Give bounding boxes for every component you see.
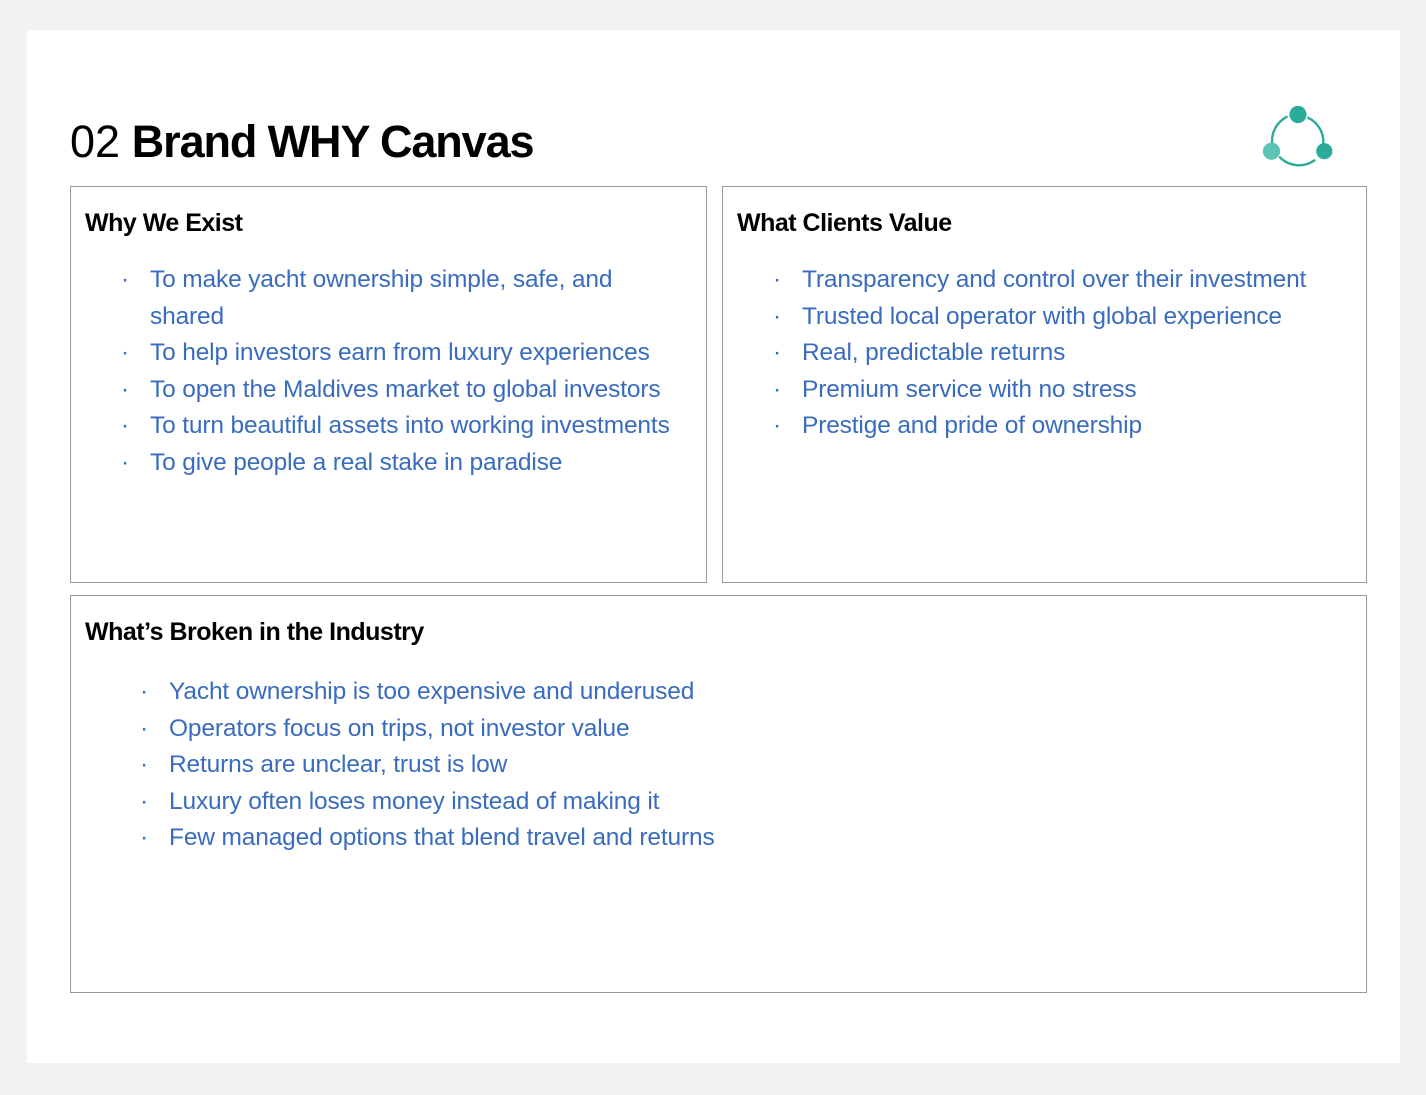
card-why-we-exist: Why We Exist · To make yacht ownership s… (70, 186, 707, 583)
slide-header: 02 Brand WHY Canvas (70, 88, 1367, 178)
card-title-whats-broken: What’s Broken in the Industry (71, 596, 1366, 647)
list-item: · Returns are unclear, trust is low (138, 747, 1171, 784)
bullet-marker-icon: · (771, 408, 783, 445)
list-item: · Transparency and control over their in… (771, 262, 1333, 299)
list-item: · To give people a real stake in paradis… (119, 445, 671, 482)
list-item-label: To open the Maldives market to global in… (119, 372, 671, 409)
logo-node-right (1316, 143, 1332, 159)
bullet-marker-icon: · (138, 711, 150, 748)
circular-nodes-logo-icon (1256, 101, 1340, 171)
list-item-label: Operators focus on trips, not investor v… (138, 711, 1171, 748)
bullet-marker-icon: · (771, 299, 783, 336)
bullet-list-whats-broken: · Yacht ownership is too expensive and u… (71, 674, 1171, 857)
card-what-clients-value: What Clients Value · Transparency and co… (722, 186, 1367, 583)
list-item-label: To make yacht ownership simple, safe, an… (119, 262, 671, 335)
list-item: · To help investors earn from luxury exp… (119, 335, 671, 372)
list-item-label: Returns are unclear, trust is low (138, 747, 1171, 784)
logo-node-left (1263, 143, 1280, 160)
list-item-label: Transparency and control over their inve… (771, 262, 1333, 299)
list-item-label: To help investors earn from luxury exper… (119, 335, 671, 372)
list-item: · To open the Maldives market to global … (119, 372, 671, 409)
title-text: Brand WHY Canvas (132, 116, 534, 167)
bullet-marker-icon: · (771, 372, 783, 409)
list-item-label: To turn beautiful assets into working in… (119, 408, 671, 445)
bullet-marker-icon: · (119, 335, 131, 372)
bullet-marker-icon: · (138, 747, 150, 784)
bullet-marker-icon: · (138, 784, 150, 821)
logo-node-top (1289, 106, 1306, 123)
bullet-marker-icon: · (119, 262, 131, 299)
card-title-what-clients-value: What Clients Value (723, 187, 1366, 238)
bullet-marker-icon: · (771, 335, 783, 372)
card-title-why-we-exist: Why We Exist (71, 187, 706, 238)
list-item-label: Prestige and pride of ownership (771, 408, 1333, 445)
list-item: · Operators focus on trips, not investor… (138, 711, 1171, 748)
list-item-label: Yacht ownership is too expensive and und… (138, 674, 1171, 711)
list-item: · Premium service with no stress (771, 372, 1333, 409)
list-item: · To turn beautiful assets into working … (119, 408, 671, 445)
list-item: · To make yacht ownership simple, safe, … (119, 262, 671, 335)
section-number: 02 (70, 116, 120, 167)
list-item: · Few managed options that blend travel … (138, 820, 1171, 857)
list-item: · Luxury often loses money instead of ma… (138, 784, 1171, 821)
bullet-marker-icon: · (771, 262, 783, 299)
card-whats-broken-in-the-industry: What’s Broken in the Industry · Yacht ow… (70, 595, 1367, 993)
page-canvas: 02 Brand WHY Canvas Why We Exist (0, 0, 1426, 1095)
list-item-label: Real, predictable returns (771, 335, 1333, 372)
bullet-marker-icon: · (119, 372, 131, 409)
list-item: · Trusted local operator with global exp… (771, 299, 1333, 336)
list-item-label: Premium service with no stress (771, 372, 1333, 409)
slide: 02 Brand WHY Canvas Why We Exist (27, 30, 1400, 1063)
bullet-marker-icon: · (119, 445, 131, 482)
list-item-label: Few managed options that blend travel an… (138, 820, 1171, 857)
bullet-list-why-we-exist: · To make yacht ownership simple, safe, … (71, 262, 671, 481)
list-item: · Prestige and pride of ownership (771, 408, 1333, 445)
list-item-label: To give people a real stake in paradise (119, 445, 671, 482)
bullet-list-what-clients-value: · Transparency and control over their in… (723, 262, 1333, 445)
list-item: · Real, predictable returns (771, 335, 1333, 372)
bullet-marker-icon: · (138, 674, 150, 711)
page-title: 02 Brand WHY Canvas (70, 116, 533, 168)
bullet-marker-icon: · (119, 408, 131, 445)
list-item: · Yacht ownership is too expensive and u… (138, 674, 1171, 711)
bullet-marker-icon: · (138, 820, 150, 857)
list-item-label: Trusted local operator with global exper… (771, 299, 1333, 336)
list-item-label: Luxury often loses money instead of maki… (138, 784, 1171, 821)
